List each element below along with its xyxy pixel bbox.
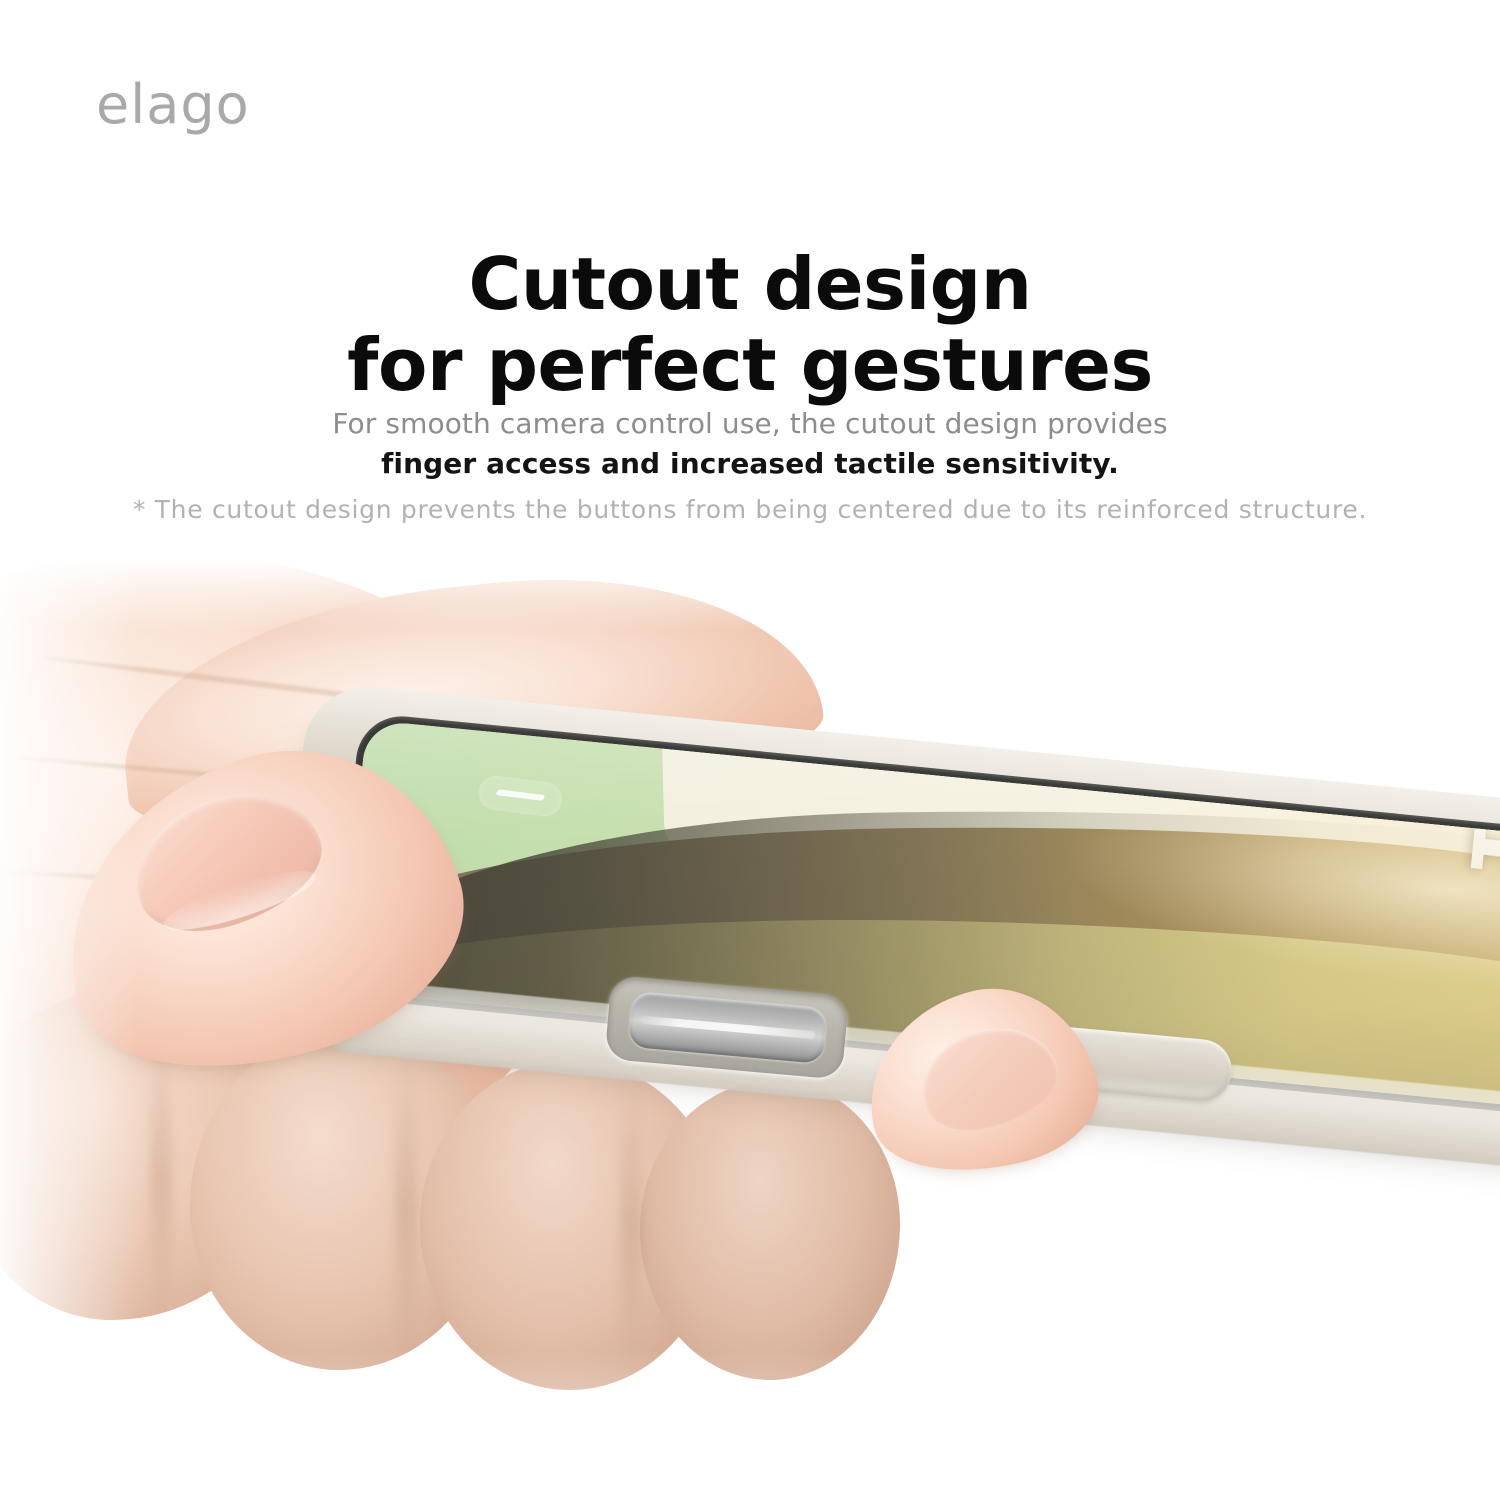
- subtext-block: For smooth camera control use, the cutou…: [0, 404, 1500, 484]
- subtext-line-1: For smooth camera control use, the cutou…: [0, 404, 1500, 444]
- hand-seam-3: [620, 1080, 642, 1370]
- page-title: Cutout design for perfect gestures: [0, 244, 1500, 405]
- headline-line-2: for perfect gestures: [0, 325, 1500, 406]
- camera-control-button[interactable]: [628, 991, 828, 1064]
- photo-fade-bottom: [0, 1350, 1500, 1500]
- photo-fade-top: [0, 560, 1500, 630]
- footnote-disclaimer: * The cutout design prevents the buttons…: [0, 494, 1500, 527]
- product-photo: 9:41: [0, 560, 1500, 1500]
- headline-line-1: Cutout design: [469, 242, 1032, 326]
- product-feature-page: elago Cutout design for perfect gestures…: [0, 0, 1500, 1500]
- hand-seam-1: [150, 1030, 172, 1330]
- subtext-line-2: finger access and increased tactile sens…: [0, 444, 1500, 484]
- brand-logo-elago: elago: [96, 78, 250, 132]
- hand-seam-2: [395, 1060, 417, 1360]
